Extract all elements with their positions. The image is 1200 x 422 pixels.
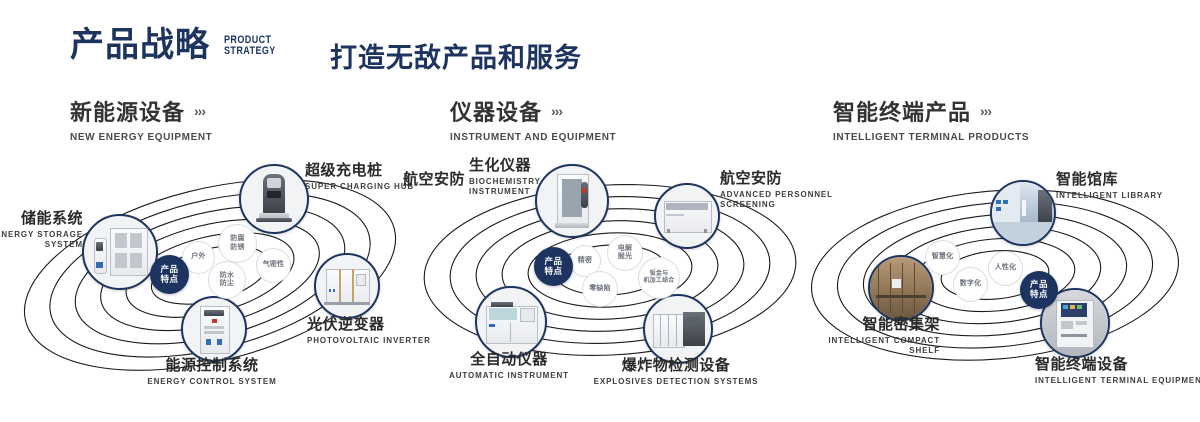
node-pv-inverter[interactable]	[314, 253, 380, 319]
cluster-intelligent-terminal: 智能馆库 INTELLIGENT LIBRARY 智能终端设备 INTELLIG…	[790, 145, 1200, 405]
node-energy-control[interactable]	[181, 296, 247, 362]
section-heading-new-energy: 新能源设备 ››› NEW ENERGY EQUIPMENT	[70, 95, 212, 143]
energy-storage-cabinet-icon	[84, 216, 156, 288]
compact-shelving-icon	[870, 257, 932, 319]
chevron-right-icon: ›››	[980, 103, 991, 119]
node-explosives-detection[interactable]	[643, 294, 713, 364]
charging-pile-icon	[241, 166, 307, 232]
feature-bubble-1: 电解抛光	[607, 235, 643, 271]
control-cabinet-icon	[183, 298, 245, 360]
node-label-intelligent-compact-shelf: 智能密集架 INTELLIGENT COMPACT SHELF	[770, 317, 940, 356]
section-title-en-0: NEW ENERGY EQUIPMENT	[70, 132, 212, 143]
library-interior-icon	[992, 182, 1054, 244]
page-subtitle: 打造无敌产品和服务	[330, 36, 582, 75]
feature-bubble-1: 防腐防锈	[218, 224, 257, 263]
node-label-biochemistry: 生化仪器 BIOCHEMISTRY INSTRUMENT	[469, 158, 541, 197]
section-title-cn-2: 智能终端产品	[833, 95, 971, 127]
section-title-cn-1: 仪器设备	[450, 95, 542, 127]
screening-machine-icon	[656, 185, 718, 247]
center-badge-intelligent: 产品特点	[1020, 271, 1058, 309]
badge-text: 产品特点	[160, 265, 178, 285]
node-automatic-instrument[interactable]	[475, 286, 547, 358]
node-charging-pile[interactable]	[239, 164, 309, 234]
feature-bubble-0: 智慧化	[925, 240, 960, 275]
node-intelligent-library[interactable]	[990, 180, 1056, 246]
node-intelligent-compact-shelf[interactable]	[868, 255, 934, 321]
page-title-en: PRODUCT STRATEGY	[224, 35, 276, 62]
section-heading-intelligent: 智能终端产品 ››› INTELLIGENT TERMINAL PRODUCTS	[833, 95, 1029, 143]
chevron-right-icon: ›››	[551, 103, 562, 119]
node-energy-storage[interactable]	[82, 214, 158, 290]
page-header: 产品战略 PRODUCT STRATEGY	[70, 28, 287, 62]
feature-bubble-2: 零缺陷	[582, 271, 618, 307]
detection-cabinet-icon	[645, 296, 711, 362]
security-scanner-gate-icon	[537, 166, 607, 236]
section-title-en-2: INTELLIGENT TERMINAL PRODUCTS	[833, 132, 1029, 143]
chevron-right-icon: ›››	[194, 103, 205, 119]
feature-bubble-2: 人性化	[988, 251, 1023, 286]
node-label-intelligent-library: 智能馆库 INTELLIGENT LIBRARY	[1056, 172, 1196, 201]
node-label-energy-storage: 储能系统 ENERGY STORAGE SYSTEM	[0, 211, 83, 250]
node-label-energy-control: 能源控制系统 ENERGY CONTROL SYSTEM	[82, 358, 342, 387]
cluster-instrument: 生化仪器 BIOCHEMISTRY INSTRUMENT 航空安防 航空安防 A…	[400, 145, 820, 405]
feature-bubble-2: 防水防尘	[208, 261, 246, 299]
badge-text: 产品特点	[544, 257, 562, 277]
feature-bubble-1: 数字化	[953, 267, 988, 302]
section-title-en-1: INSTRUMENT AND EQUIPMENT	[450, 132, 616, 143]
feature-bubble-3: 气密性	[256, 248, 291, 283]
feature-bubble-3: 钣金与机加工结合	[638, 257, 680, 299]
badge-text: 产品特点	[1030, 280, 1048, 300]
node-personnel-screening[interactable]	[654, 183, 720, 249]
page-title-cn: 产品战略	[70, 28, 210, 62]
node-label-automatic-instrument: 全自动仪器 AUTOMATIC INSTRUMENT	[409, 352, 609, 381]
automatic-analyzer-icon	[477, 288, 545, 356]
center-badge-new-energy: 产品特点	[150, 255, 189, 294]
center-badge-instrument: 产品特点	[534, 247, 573, 286]
node-label-aviation-security-left: 航空安防	[335, 172, 465, 189]
product-strategy-infographic: 产品战略 PRODUCT STRATEGY 打造无敌产品和服务 新能源设备 ››…	[0, 0, 1200, 422]
pv-inverter-cabinet-icon	[316, 255, 378, 317]
node-label-intelligent-terminal-equipment: 智能终端设备 INTELLIGENT TERMINAL EQUIPMENT	[1035, 357, 1200, 386]
section-heading-instrument: 仪器设备 ››› INSTRUMENT AND EQUIPMENT	[450, 95, 616, 143]
section-title-cn-0: 新能源设备	[70, 95, 185, 127]
node-biochemistry-instrument[interactable]	[535, 164, 609, 238]
